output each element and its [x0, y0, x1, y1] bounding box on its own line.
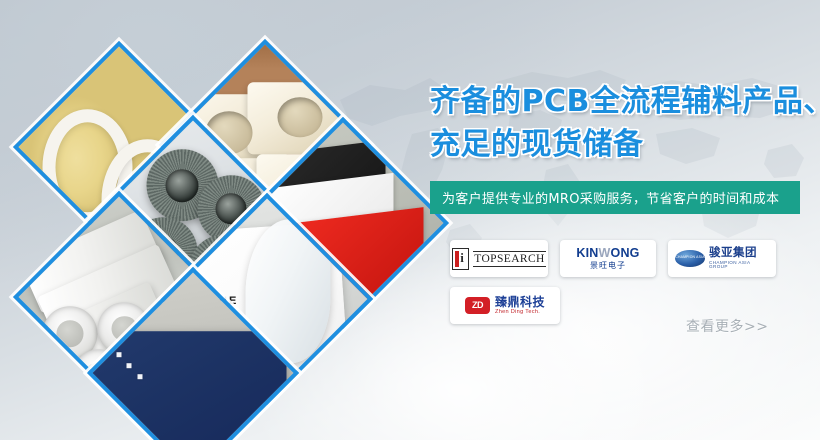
champion-asia-globe-icon — [675, 250, 705, 267]
zhen-ding-wordmark-cn: 臻鼎科技 — [495, 296, 545, 308]
partner-logo-zhen-ding[interactable]: 臻鼎科技 Zhen Ding Tech. — [450, 287, 560, 324]
subtitle-text: 为客户提供专业的MRO采购服务，节省客户的时间和成本 — [442, 188, 779, 207]
champion-asia-wordmark-en: CHAMPION ASIA GROUP — [709, 261, 769, 270]
partner-logo-kinwong[interactable]: KINWONG 景旺电子 — [560, 240, 656, 277]
topsearch-wordmark: TOPSEARCH — [473, 251, 546, 267]
headline-line-2: 充足的现货储备 — [430, 123, 812, 166]
partner-logo-row-1: TOPSEARCH KINWONG 景旺电子 骏亚集团 CHAMPION ASI… — [450, 240, 800, 277]
partner-logo-champion-asia[interactable]: 骏亚集团 CHAMPION ASIA GROUP — [668, 240, 776, 277]
partner-logo-topsearch[interactable]: TOPSEARCH — [450, 240, 548, 277]
kinwong-wordmark: KINWONG — [576, 247, 639, 260]
zhen-ding-mark-icon — [465, 297, 490, 314]
topsearch-mark-icon — [452, 248, 469, 270]
subtitle-bar: 为客户提供专业的MRO采购服务，节省客户的时间和成本 — [430, 181, 800, 214]
champion-asia-wordmark-cn: 骏亚集团 — [709, 247, 769, 259]
banner-copy: 齐备的PCB全流程辅料产品、 充足的现货储备 为客户提供专业的MRO采购服务，节… — [430, 80, 812, 214]
zhen-ding-wordmark-en: Zhen Ding Tech. — [495, 310, 545, 316]
headline-line-1: 齐备的PCB全流程辅料产品、 — [430, 84, 820, 119]
promo-banner: JIE 齐备的PCB全流程辅料产品、 充足的现货储备 为客户提供专业的MRO采购… — [0, 0, 820, 440]
kinwong-wordmark-cn: 景旺电子 — [576, 262, 639, 270]
page-title: 齐备的PCB全流程辅料产品、 充足的现货储备 — [430, 80, 812, 166]
view-more-link[interactable]: 查看更多>> — [686, 316, 768, 336]
